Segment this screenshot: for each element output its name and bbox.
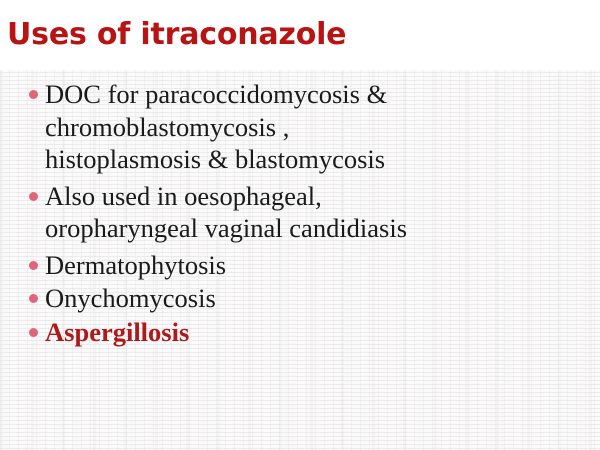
page-title: Uses of itraconazole [0, 18, 346, 52]
list-item: Onychomycosis [0, 282, 600, 315]
list-item: Also used in oesophageal,oropharyngeal v… [0, 180, 600, 245]
bullet-list: DOC for paracoccidomycosis &chromoblasto… [0, 78, 600, 348]
list-item: DOC for paracoccidomycosis &chromoblasto… [0, 78, 600, 176]
list-item-line: chromoblastomycosis , [45, 111, 592, 144]
list-item-line: histoplasmosis & blastomycosis [45, 143, 592, 176]
slide-title-area: Uses of itraconazole [0, 0, 600, 70]
list-item-line: Also used in oesophageal, [45, 180, 592, 213]
list-item: Aspergillosis [0, 316, 600, 349]
presentation-slide: Uses of itraconazole DOC for paracoccido… [0, 0, 600, 450]
list-item: Dermatophytosis [0, 249, 600, 282]
list-item-line: DOC for paracoccidomycosis & [45, 78, 592, 111]
list-item-line: Onychomycosis [45, 282, 592, 315]
list-item-line: Aspergillosis [45, 316, 592, 349]
slide-body-area: DOC for paracoccidomycosis &chromoblasto… [0, 78, 600, 349]
list-item-line: Dermatophytosis [45, 249, 592, 282]
list-item-line: oropharyngeal vaginal candidiasis [45, 212, 592, 245]
